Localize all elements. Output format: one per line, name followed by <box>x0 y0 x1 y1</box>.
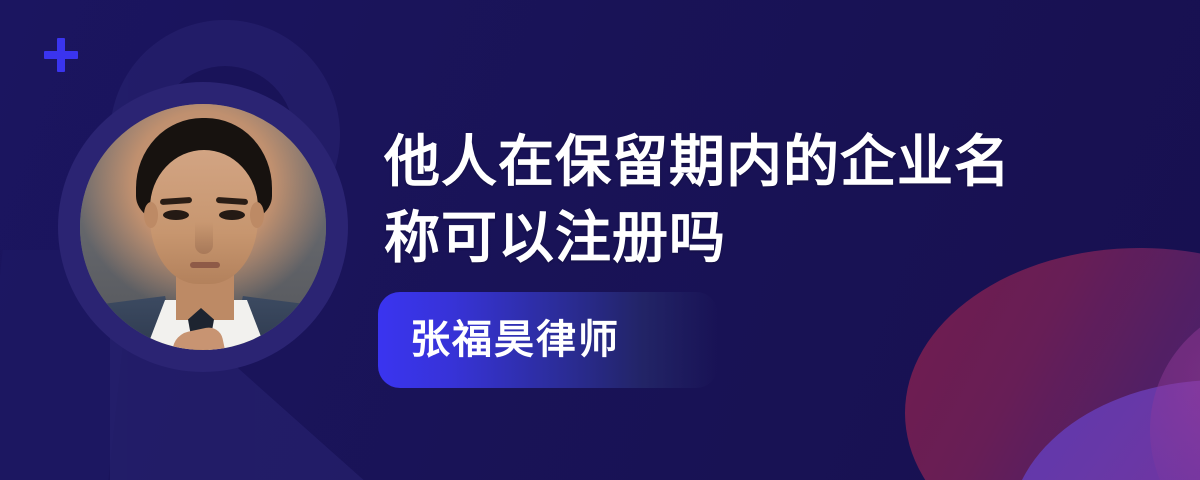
article-title: 他人在保留期内的企业名 称可以注册吗 <box>384 124 1064 276</box>
plus-icon <box>44 38 78 72</box>
avatar-nose <box>195 222 213 254</box>
plus-icon-bar-vertical <box>57 38 65 72</box>
lawyer-article-banner: 他人在保留期内的企业名 称可以注册吗 张福昊律师 <box>0 0 1200 480</box>
author-name-label: 张福昊律师 <box>410 320 620 360</box>
banner-content: 他人在保留期内的企业名 称可以注册吗 张福昊律师 <box>384 0 1084 480</box>
avatar-eye-left <box>163 210 189 220</box>
avatar-photo <box>80 104 326 350</box>
avatar-ear-left <box>144 202 158 228</box>
avatar-ear-right <box>250 202 264 228</box>
author-name-button[interactable]: 张福昊律师 <box>378 292 718 388</box>
avatar-eye-right <box>219 210 245 220</box>
avatar <box>80 104 326 350</box>
avatar-mouth <box>190 262 220 268</box>
